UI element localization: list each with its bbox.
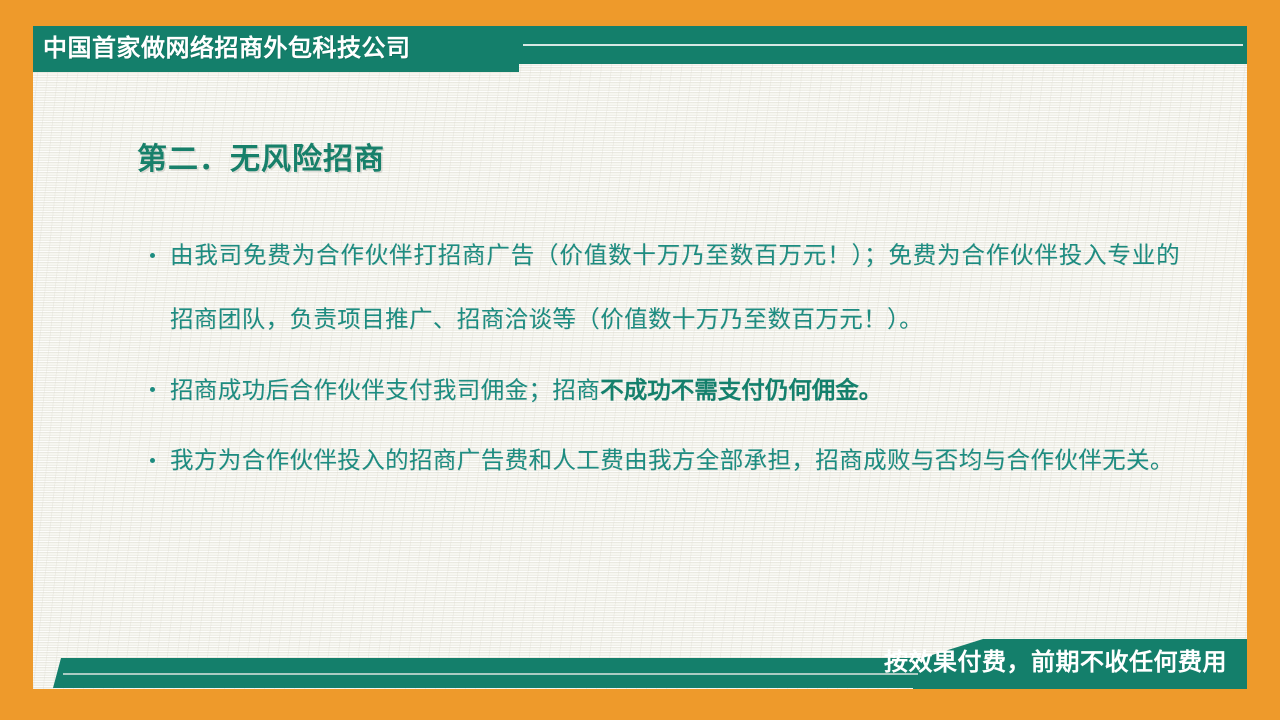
bullet-dot-icon [150, 387, 155, 392]
slide-footer: 按效果付费，前期不收任何费用 [33, 637, 1247, 689]
slide-header: 中国首家做网络招商外包科技公司 [33, 26, 1247, 78]
header-divider-line [523, 44, 1243, 46]
list-item-text: 我方为合作伙伴投入的招商广告费和人工费由我方全部承担，招商成败与否均与合作伙伴无… [170, 448, 1174, 474]
footer-divider-line [63, 673, 918, 675]
list-item: 由我司免费为合作伙伴打招商广告（价值数十万乃至数百万元！）；免费为合作伙伴投入专… [140, 224, 1180, 352]
list-item: 招商成功后合作伙伴支付我司佣金；招商不成功不需支付仍何佣金。 [140, 358, 1180, 423]
list-item: 我方为合作伙伴投入的招商广告费和人工费由我方全部承担，招商成败与否均与合作伙伴无… [140, 429, 1180, 493]
list-item-text: 由我司免费为合作伙伴打招商广告（价值数十万乃至数百万元！）；免费为合作伙伴投入专… [170, 243, 1180, 333]
page-title: 第二．无风险招商 [137, 134, 385, 178]
header-title: 中国首家做网络招商外包科技公司 [43, 33, 411, 65]
list-item-text: 招商成功后合作伙伴支付我司佣金；招商 [170, 378, 600, 404]
bullet-dot-icon [150, 253, 155, 258]
list-item-emphasis: 不成功不需支付仍何佣金。 [600, 377, 882, 403]
footer-tagline: 按效果付费，前期不收任何费用 [884, 646, 1227, 680]
bullet-list: 由我司免费为合作伙伴打招商广告（价值数十万乃至数百万元！）；免费为合作伙伴投入专… [140, 224, 1180, 499]
slide-canvas: 中国首家做网络招商外包科技公司 第二．无风险招商 由我司免费为合作伙伴打招商广告… [0, 0, 1280, 720]
bullet-dot-icon [150, 458, 155, 463]
